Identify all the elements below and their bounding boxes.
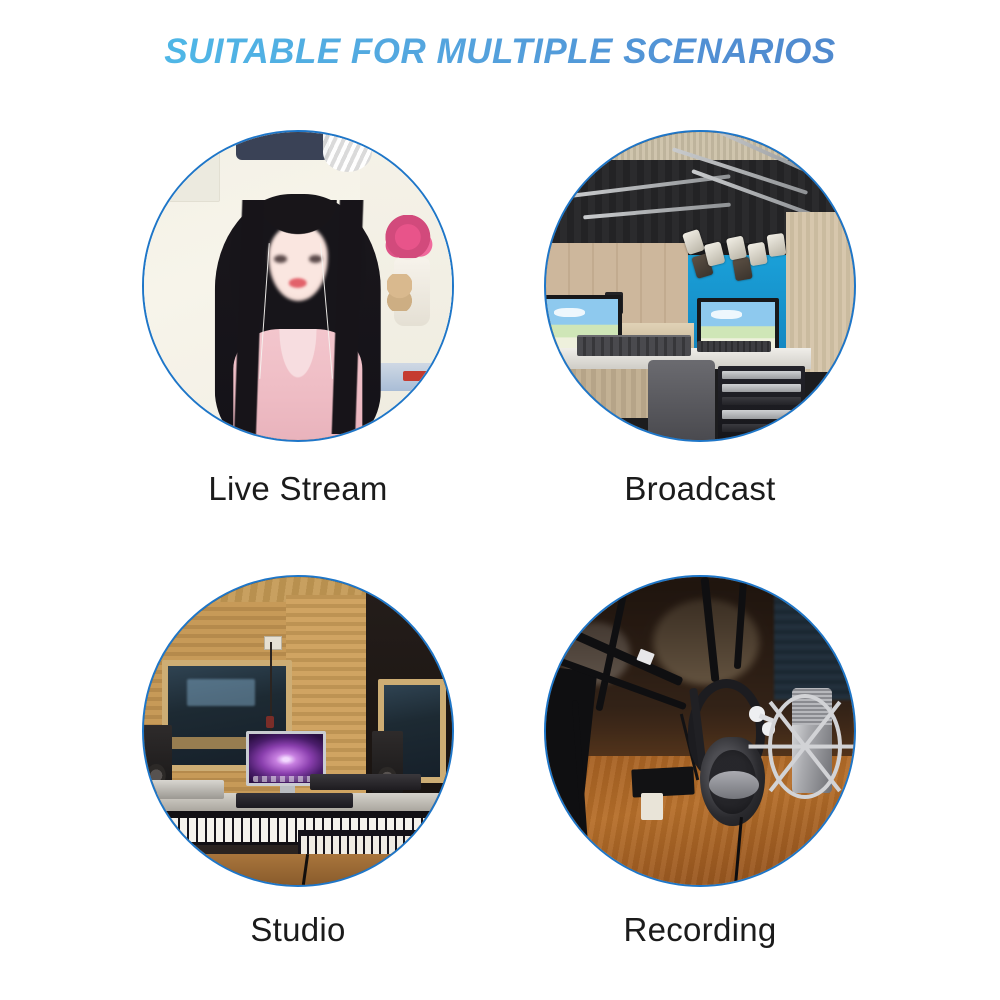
scenario-label-live-stream: Live Stream [98,470,498,508]
studio-chair [648,360,716,440]
rack-unit [722,384,801,392]
recording-photo [546,577,854,885]
wall-plate [264,636,281,650]
scenario-card-studio[interactable]: Studio [98,575,498,949]
page-title: SUITABLE FOR MULTIPLE SCENARIOS [0,32,1000,72]
window-reflection [187,679,255,707]
rack-unit [722,410,801,418]
mixing-console [577,335,691,355]
scenario-grid: Live Stream [0,120,1000,980]
headphone-cushion [709,771,758,799]
shock-mount [768,694,842,799]
scenario-card-recording[interactable]: Recording [500,575,900,949]
computer-keyboard [236,793,353,808]
rack-unit [722,424,801,432]
broadcast-photo [546,132,854,440]
rack-unit [722,371,801,379]
equipment-rack [718,366,804,440]
microphone-icon [266,716,274,728]
rack-unit [722,397,801,405]
midi-keyboard [310,774,421,789]
red-package [403,371,434,382]
wood-floor [144,854,452,885]
scenario-image-recording[interactable] [544,575,856,887]
scenarios-page: SUITABLE FOR MULTIPLE SCENARIOS [0,0,1000,1000]
door-panel [169,144,220,201]
ring-light-icon [323,132,372,172]
stage-light-icon [747,242,768,267]
scenario-card-broadcast[interactable]: Broadcast [500,130,900,508]
scenario-image-studio[interactable] [142,575,454,887]
scenario-card-live-stream[interactable]: Live Stream [98,130,498,508]
scenario-image-live-stream[interactable] [142,130,454,442]
stage-light-icon [704,241,726,266]
streamer-hair-front [218,200,378,434]
studio-photo [144,577,452,885]
midi-keyboard [144,780,224,798]
teddy-bear [387,274,412,311]
desk-small-item [641,793,663,821]
piano-keyboard-secondary [298,830,452,858]
overhead-shelf [236,132,328,160]
flower-bouquet [384,215,436,264]
stage-light-icon [766,233,786,257]
scenario-label-broadcast: Broadcast [500,470,900,508]
background-equipment-rack [774,595,854,700]
live-stream-photo [144,132,452,440]
wallpaper-cloud [554,308,585,317]
keyboard-tray [697,341,771,352]
scenario-label-studio: Studio [98,911,498,949]
wallpaper-cloud [711,310,742,319]
scenario-image-broadcast[interactable] [544,130,856,442]
desktop-dock [253,776,318,782]
piano-keys [301,836,449,854]
shock-mount-band [748,744,854,748]
scenario-label-recording: Recording [500,911,900,949]
